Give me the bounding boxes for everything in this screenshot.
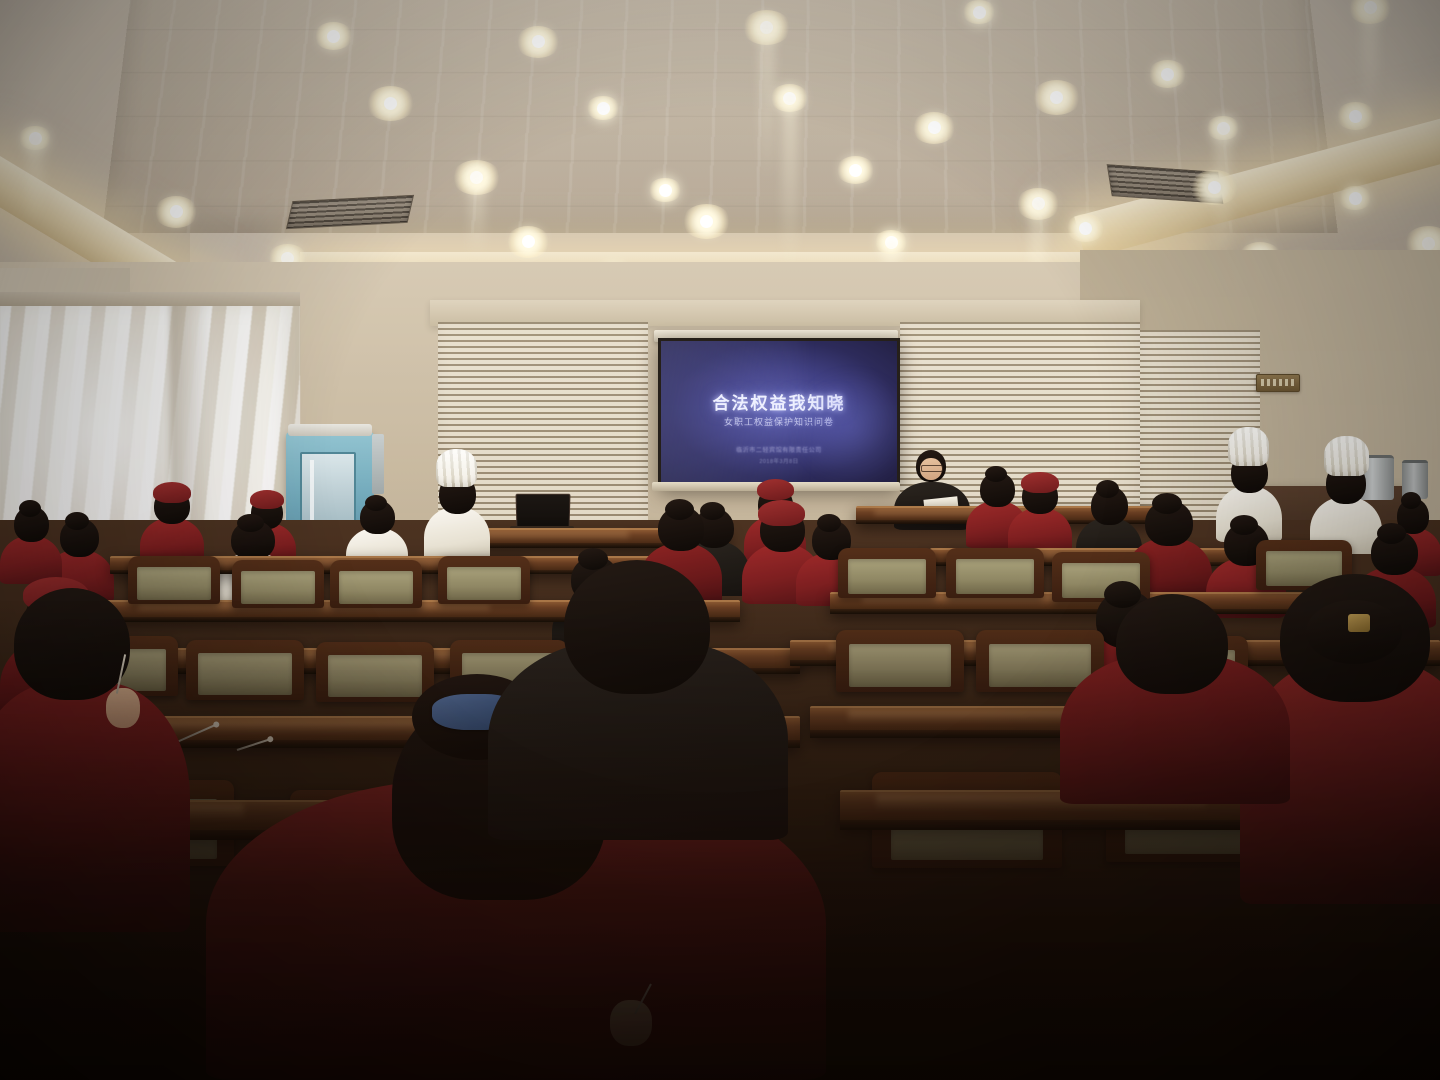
- red-service-cap-icon: [757, 479, 794, 500]
- attendee-hair-bun: [365, 495, 387, 511]
- attendee-hair-bun: [1377, 523, 1406, 544]
- ceiling-downlight-icon: [506, 226, 550, 258]
- attendee: [0, 506, 62, 584]
- wall-plaque: [1256, 374, 1300, 392]
- ceiling-downlight-icon: [1336, 102, 1375, 130]
- attendee: [140, 488, 204, 566]
- slide-date: 2018年3月8日: [661, 457, 897, 465]
- projection-screen: 合法权益我知晓 女职工权益保护知识问卷 临沂市二轻宾馆有限责任公司 2018年3…: [658, 338, 900, 488]
- ceiling-downlight-icon: [516, 26, 560, 58]
- chair-seat-back: [956, 559, 1034, 594]
- chef-toque-icon: [1324, 436, 1369, 476]
- dispenser-side-unit: [372, 434, 384, 494]
- attendee-hair-bun: [985, 466, 1007, 482]
- slide-subtitle: 女职工权益保护知识问卷: [661, 415, 897, 428]
- light-beam: [469, 170, 485, 260]
- attendee-hair-bun: [817, 514, 841, 532]
- attendee-hair-bun: [665, 499, 694, 520]
- ceiling-downlight-icon: [314, 22, 353, 50]
- red-service-cap-icon: [1021, 472, 1059, 493]
- red-service-cap-icon: [250, 490, 284, 509]
- projection-surface: 合法权益我知晓 女职工权益保护知识问卷 临沂市二轻宾馆有限责任公司 2018年3…: [661, 341, 897, 485]
- ceiling-downlight-icon: [366, 86, 415, 121]
- attendee-hair-bun: [237, 514, 264, 532]
- attendee-hair-bun: [1152, 493, 1182, 514]
- light-beam: [1362, 2, 1378, 116]
- ceiling-downlight-icon: [154, 196, 198, 228]
- ceiling-downlight-icon: [912, 112, 956, 144]
- attendee-torso: [424, 507, 490, 560]
- ceiling-downlight-icon: [836, 156, 875, 184]
- slide-organization: 临沂市二轻宾馆有限责任公司: [661, 445, 897, 454]
- presenter-laptop-screen[interactable]: [516, 494, 571, 530]
- dispenser-top: [288, 424, 372, 436]
- ceiling-downlight-icon: [1066, 214, 1105, 242]
- light-beam: [782, 94, 798, 280]
- room-shadow-overlay: [0, 600, 1440, 1080]
- conference-room-photo: 合法权益我知晓 女职工权益保护知识问卷 临沂市二轻宾馆有限责任公司 2018年3…: [0, 0, 1440, 1080]
- light-beam: [27, 136, 43, 226]
- attendee-hair-bun: [65, 512, 89, 530]
- attendee-hair-bun: [1401, 492, 1421, 509]
- conference-chair[interactable]: [946, 548, 1044, 598]
- conference-chair[interactable]: [838, 548, 936, 598]
- presenter-glasses: [921, 465, 943, 472]
- red-service-cap-icon: [153, 482, 191, 503]
- ceiling-downlight-icon: [1032, 80, 1081, 115]
- ceiling-downlight-icon: [1190, 170, 1239, 205]
- attendee: [424, 474, 490, 560]
- slide-title: 合法权益我知晓: [661, 389, 897, 414]
- curtain-rail: [0, 292, 300, 306]
- ceiling-downlight-icon: [1148, 60, 1187, 88]
- chair-seat-back: [848, 559, 926, 594]
- attendee: [1008, 478, 1072, 556]
- chef-toque-icon: [436, 449, 477, 487]
- attendee-hair-bun: [1096, 480, 1119, 498]
- attendee-hair-bun: [19, 500, 41, 517]
- chef-toque-icon: [1228, 427, 1269, 466]
- ceiling-downlight-icon: [682, 204, 731, 239]
- attendee-hair-bun: [1230, 515, 1258, 535]
